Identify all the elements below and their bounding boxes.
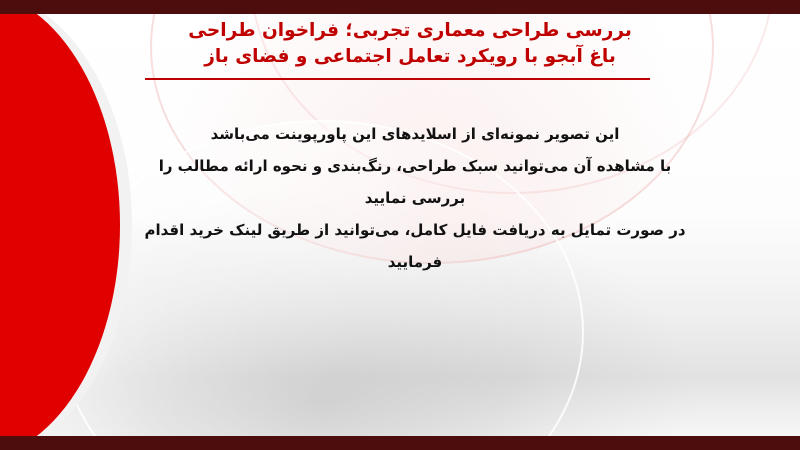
slide-canvas: بررسی طراحی معماری تجربی؛ فراخوان طراحی … (0, 0, 800, 450)
top-accent-bar (0, 0, 800, 14)
bottom-accent-bar (0, 436, 800, 450)
slide-body: این تصویر نمونه‌ای از اسلایدهای این پاور… (140, 118, 690, 278)
slide-title-line-2: باغ آبجو با رویکرد تعامل اجتماعی و فضای … (140, 44, 680, 70)
slide-body-line-1: این تصویر نمونه‌ای از اسلایدهای این پاور… (140, 118, 690, 150)
slide-body-line-3: در صورت تمایل به دریافت فایل کامل، می‌تو… (140, 214, 690, 278)
title-underline-rule (145, 78, 650, 80)
slide-title-line-1: بررسی طراحی معماری تجربی؛ فراخوان طراحی (140, 18, 680, 44)
slide-title: بررسی طراحی معماری تجربی؛ فراخوان طراحی … (140, 18, 680, 70)
slide-body-line-2: با مشاهده آن می‌توانید سبک طراحی، رنگ‌بن… (140, 150, 690, 214)
